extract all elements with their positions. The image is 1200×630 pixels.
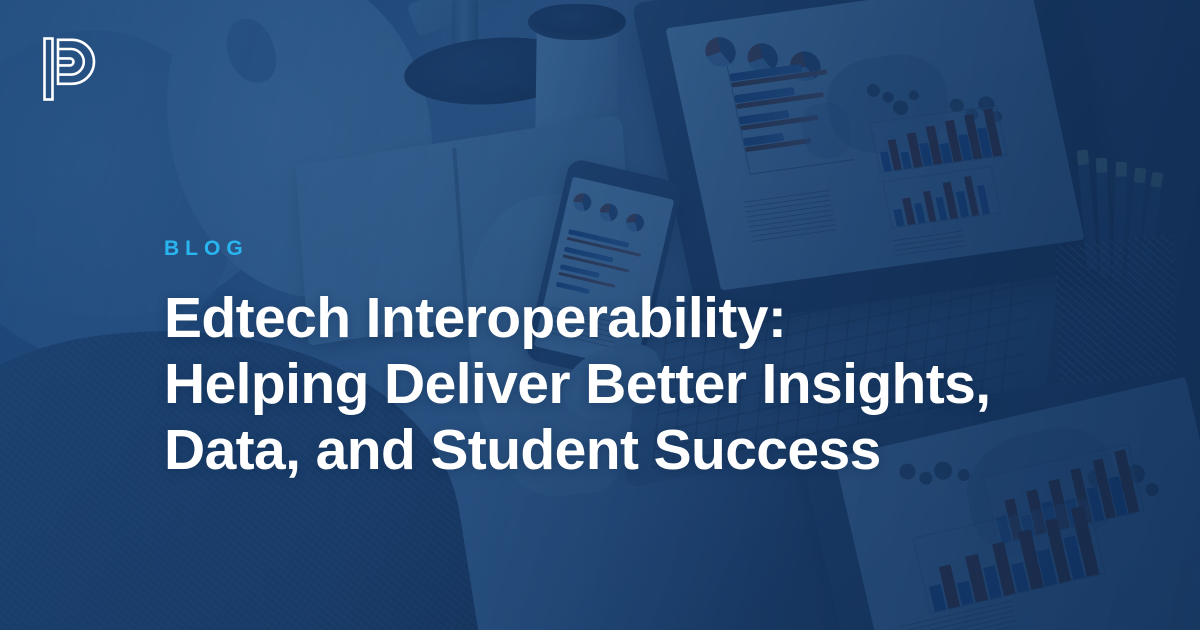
card-content: BLOG Edtech Interoperability: Helping De… bbox=[164, 238, 1174, 483]
category-eyebrow: BLOG bbox=[164, 238, 1174, 259]
page-title: Edtech Interoperability: Helping Deliver… bbox=[164, 285, 1174, 483]
headline-line-3: Data, and Student Success bbox=[164, 417, 1174, 483]
pearson-p-logo-icon[interactable] bbox=[42, 36, 102, 102]
social-share-card: BLOG Edtech Interoperability: Helping De… bbox=[0, 0, 1200, 630]
headline-line-1: Edtech Interoperability: bbox=[164, 285, 1174, 351]
headline-line-2: Helping Deliver Better Insights, bbox=[164, 351, 1174, 417]
